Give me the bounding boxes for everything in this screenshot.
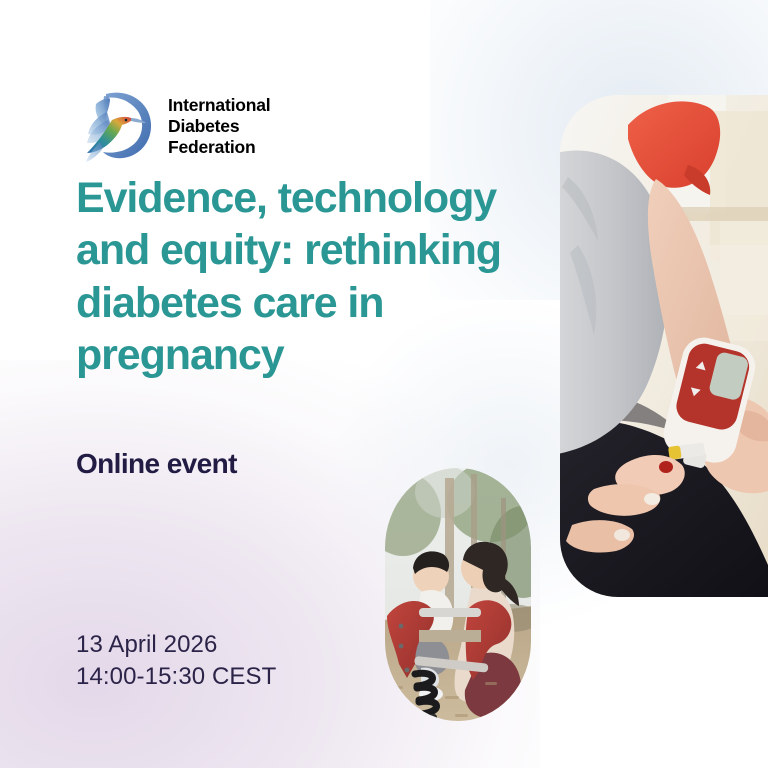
event-format-label: Online event (76, 448, 237, 480)
event-datetime: 13 April 2026 14:00-15:30 CEST (76, 629, 276, 693)
logo-text-line-3: Federation (168, 137, 270, 158)
page-title: Evidence, technology and equity: rethink… (76, 172, 516, 382)
mother-and-child-playground-photo (385, 468, 531, 721)
event-time: 14:00-15:30 CEST (76, 661, 276, 693)
event-date: 13 April 2026 (76, 629, 276, 661)
event-promo-poster: International Diabetes Federation Eviden… (0, 0, 768, 768)
pregnant-woman-blood-glucose-test-photo (560, 95, 768, 597)
idf-logo-text: International Diabetes Federation (168, 95, 270, 158)
hummingbird-in-ring-icon (76, 86, 158, 166)
logo-text-line-2: Diabetes (168, 116, 270, 137)
idf-logo[interactable]: International Diabetes Federation (76, 86, 270, 166)
logo-text-line-1: International (168, 95, 270, 116)
